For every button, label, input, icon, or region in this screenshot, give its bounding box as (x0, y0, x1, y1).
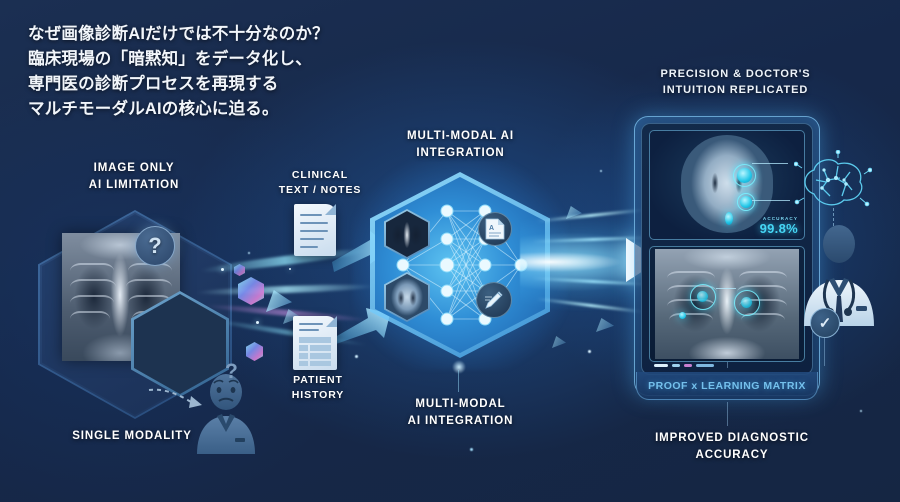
annotation-leader-line (752, 163, 788, 164)
annotation-leader-line (752, 200, 790, 201)
panel-status-dots (696, 364, 714, 367)
sparkle (289, 268, 291, 270)
caption-clinical-text-notes: CLINICAL TEXT / NOTES (265, 168, 375, 198)
verified-check-badge: ✓ (810, 308, 840, 338)
decorative-glow-dot (860, 410, 862, 412)
chest-xray-scan (655, 249, 799, 359)
sparkle (221, 268, 224, 271)
sad-question-mark: ? (225, 360, 238, 384)
decorative-glow-dot (600, 170, 602, 172)
document-glyph: A (485, 218, 505, 240)
hub-annotation-pencil-icon (476, 282, 512, 318)
annotation-leader-line (716, 288, 736, 289)
brain-lesion-ring (737, 193, 755, 211)
caption-single-modality: SINGLE MODALITY (32, 428, 232, 444)
caption-improved-diagnostic-accuracy: IMPROVED DIAGNOSTIC ACCURACY (622, 430, 842, 464)
decorative-glow-dot (588, 350, 591, 353)
caption-precision-doctors-intuition: PRECISION & DOCTOR'S INTUITION REPLICATE… (628, 66, 843, 98)
svg-text:A: A (489, 225, 494, 232)
chest-finding-marker (697, 291, 708, 302)
chest-finding-marker (679, 312, 686, 319)
clinical-note-document-icon (294, 204, 336, 256)
sparkle (256, 321, 259, 324)
decorative-glow-dot (470, 448, 473, 451)
decorative-glow-dot (248, 252, 250, 254)
proof-learning-matrix-bar: PROOF x LEARNING MATRIX (636, 372, 818, 400)
panel-status-dots (654, 364, 668, 367)
caption-image-only-ai-limitation: IMAGE ONLY AI LIMITATION (34, 160, 234, 194)
check-trailing-line (824, 340, 825, 366)
patient-history-document-icon (293, 316, 337, 370)
infographic-canvas: なぜ画像診断AIだけでは不十分なのか？ 臨床現場の「暗黙知」をデータ化し、 専門… (0, 0, 900, 502)
caption-multimodal-ai-integration-top: MULTI-MODAL AI INTEGRATION (378, 128, 543, 162)
accuracy-readout: ACCURACY 99.8% (736, 216, 798, 236)
data-crystal-cube (238, 277, 264, 305)
pencil-glyph (483, 289, 505, 311)
caption-patient-history: PATIENT HISTORY (268, 373, 368, 403)
panel-status-dots (684, 364, 692, 367)
proof-learning-matrix-label: PROOF x LEARNING MATRIX (648, 380, 806, 392)
data-crystal-cube (246, 342, 263, 361)
check-mark-icon: ✓ (819, 314, 832, 332)
accuracy-value: 99.8% (736, 221, 798, 236)
hub-text-document-icon: A (478, 212, 512, 246)
chest-finding-marker (741, 297, 752, 308)
panel-status-dots (672, 364, 680, 367)
brain-lesion-marker (725, 212, 733, 225)
improved-connector-line (727, 402, 728, 426)
hub-connector-line (458, 370, 459, 392)
caption-multimodal-ai-integration-bottom: MULTI-MODAL AI INTEGRATION (378, 396, 543, 430)
brain-lesion-ring (733, 164, 756, 187)
doctor-silhouette-icon (800, 222, 878, 326)
question-mark-badge: ? (135, 226, 175, 266)
page-title: なぜ画像診断AIだけでは不十分なのか？ 臨床現場の「暗黙知」をデータ化し、 専門… (28, 22, 458, 122)
ai-brain-circuit-icon (794, 150, 872, 212)
